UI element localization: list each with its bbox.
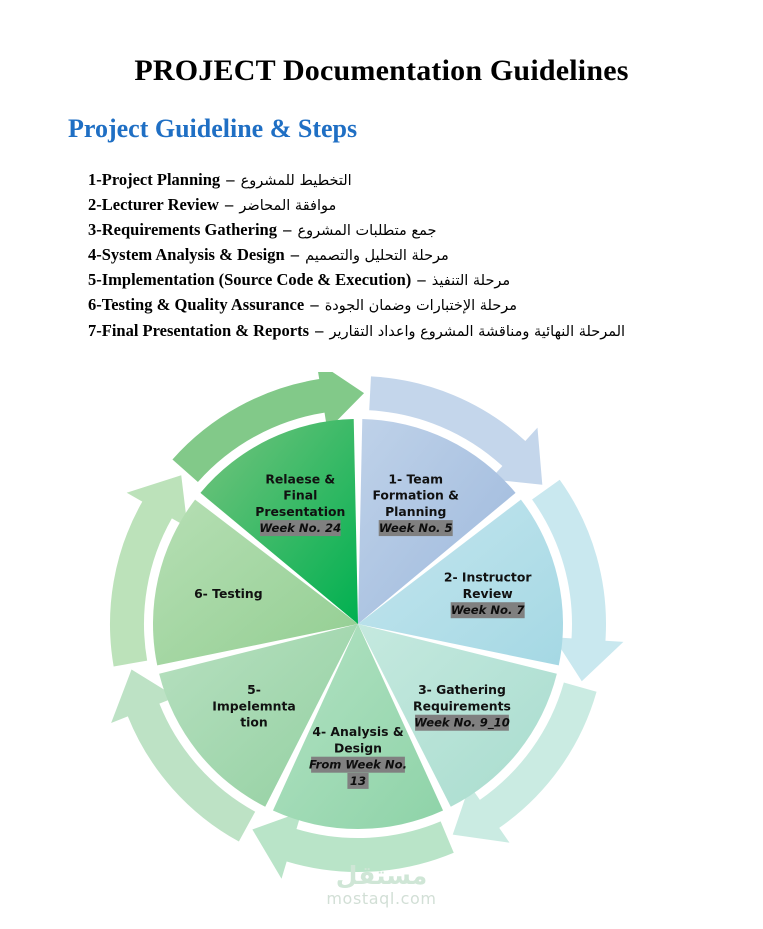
step-dash: – (220, 170, 241, 189)
step-dash: – (277, 220, 298, 239)
cycle-segment-label: Planning (385, 504, 446, 519)
cycle-segment-label: Relaese & (265, 471, 335, 486)
cycle-segment-label: Final (283, 488, 317, 503)
step-label-en: 6-Testing & Quality Assurance (88, 295, 304, 314)
step-label-ar: مرحلة التنفيذ (432, 273, 510, 289)
step-item: 5-Implementation (Source Code & Executio… (88, 268, 728, 293)
cycle-diagram-svg: 1- TeamFormation &PlanningWeek No. 52- I… (108, 372, 668, 882)
step-dash: – (411, 270, 432, 289)
cycle-segment-week: From Week No. (309, 758, 407, 772)
cycle-segment-label: 1- Team (388, 471, 443, 486)
step-label-ar: جمع متطلبات المشروع (297, 223, 436, 239)
step-label-ar: المرحلة النهائية ومناقشة المشروع واعداد … (330, 324, 626, 340)
document-page: PROJECT Documentation Guidelines Project… (0, 0, 763, 929)
step-dash: – (309, 321, 330, 340)
cycle-segment-label: 3- Gathering (418, 682, 506, 697)
step-item: 4-System Analysis & Design – مرحلة التحل… (88, 243, 728, 268)
cycle-segment-week: Week No. 24 (259, 521, 341, 535)
cycle-segment-label: 2- Instructor (444, 570, 533, 585)
page-title: PROJECT Documentation Guidelines (0, 54, 763, 88)
cycle-segment-label: 5- (247, 682, 261, 697)
watermark-latin: mostaql.com (0, 889, 763, 908)
cycle-segment-week: Week No. 9_10 (414, 716, 510, 731)
step-item: 7-Final Presentation & Reports – المرحلة… (88, 319, 728, 344)
cycle-segment-label: Presentation (255, 504, 345, 519)
cycle-segment-label: Review (463, 586, 514, 601)
cycle-segment-label: Formation & (372, 488, 459, 503)
step-label-ar: موافقة المحاضر (239, 198, 336, 214)
step-item: 1-Project Planning – التخطيط للمشروع (88, 168, 728, 193)
step-label-ar: مرحلة التحليل والتصميم (305, 248, 449, 264)
cycle-segment-label: 4- Analysis & (312, 724, 403, 739)
step-label-en: 3-Requirements Gathering (88, 220, 277, 239)
cycle-segment-label: Design (334, 740, 382, 755)
step-dash: – (219, 195, 240, 214)
step-label-ar: التخطيط للمشروع (241, 173, 352, 189)
cycle-diagram: 1- TeamFormation &PlanningWeek No. 52- I… (108, 372, 668, 882)
step-dash: – (304, 295, 325, 314)
project-steps-list: 1-Project Planning – التخطيط للمشروع2-Le… (88, 168, 728, 344)
cycle-segment-week: 13 (350, 774, 366, 788)
step-label-en: 5-Implementation (Source Code & Executio… (88, 270, 411, 289)
section-subtitle: Project Guideline & Steps (68, 114, 357, 144)
step-item: 3-Requirements Gathering – جمع متطلبات ا… (88, 218, 728, 243)
step-label-en: 4-System Analysis & Design (88, 245, 285, 264)
cycle-segment-label: Requirements (413, 698, 511, 713)
step-dash: – (285, 245, 306, 264)
cycle-segment-label: tion (240, 715, 268, 730)
step-label-ar: مرحلة الإختبارات وضمان الجودة (325, 298, 517, 314)
step-label-en: 2-Lecturer Review (88, 195, 219, 214)
step-item: 6-Testing & Quality Assurance – مرحلة ال… (88, 293, 728, 318)
cycle-segment-week: Week No. 7 (451, 603, 526, 617)
cycle-segment-week: Week No. 5 (379, 521, 453, 535)
cycle-segment-label: 6- Testing (194, 586, 263, 601)
step-label-en: 1-Project Planning (88, 170, 220, 189)
step-label-en: 7-Final Presentation & Reports (88, 321, 309, 340)
cycle-segment-label: Impelemnta (212, 698, 295, 713)
step-item: 2-Lecturer Review – موافقة المحاضر (88, 193, 728, 218)
